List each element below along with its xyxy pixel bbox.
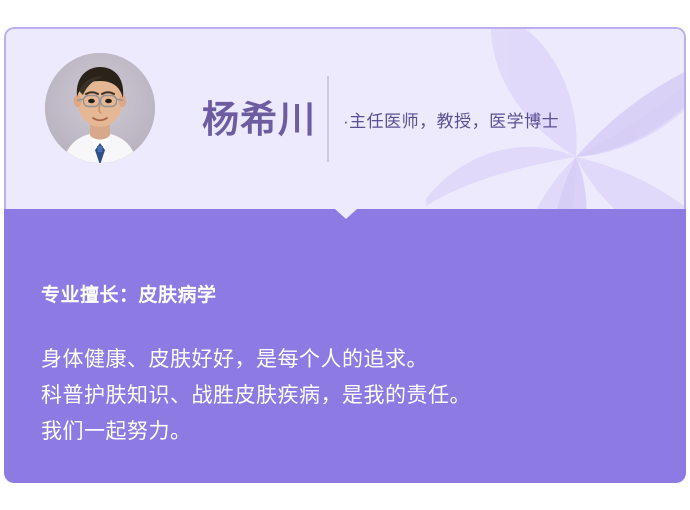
profile-body-panel: 专业擅长：皮肤病学 身体健康、皮肤好好，是每个人的追求。 科普护肤知识、战胜皮肤… (4, 209, 686, 483)
doctor-name: 杨希川 (202, 101, 316, 138)
doctor-title: ·主任医师，教授，医学博士 (343, 107, 559, 132)
bio-line: 我们一起努力。 (41, 414, 471, 450)
bio-text: 身体健康、皮肤好好，是每个人的追求。 科普护肤知识、战胜皮肤疾病，是我的责任。 … (41, 342, 471, 450)
screenshot-stage: 杨希川 ·主任医师，教授，医学博士 专业擅长：皮肤病学 身体健康、皮肤好好，是每… (0, 0, 690, 510)
doctor-identity: 杨希川 ·主任医师，教授，医学博士 (202, 75, 559, 163)
panel-seam-notch-icon (335, 209, 357, 219)
doctor-avatar (45, 53, 155, 163)
bio-line: 科普护肤知识、战胜皮肤疾病，是我的责任。 (41, 378, 471, 414)
bio-line: 身体健康、皮肤好好，是每个人的追求。 (41, 342, 471, 378)
profile-header-panel: 杨希川 ·主任医师，教授，医学博士 (4, 27, 686, 209)
specialty-label: 专业擅长：皮肤病学 (41, 280, 217, 307)
identity-divider (327, 76, 329, 162)
doctor-profile-card: 杨希川 ·主任医师，教授，医学博士 专业擅长：皮肤病学 身体健康、皮肤好好，是每… (4, 27, 686, 483)
